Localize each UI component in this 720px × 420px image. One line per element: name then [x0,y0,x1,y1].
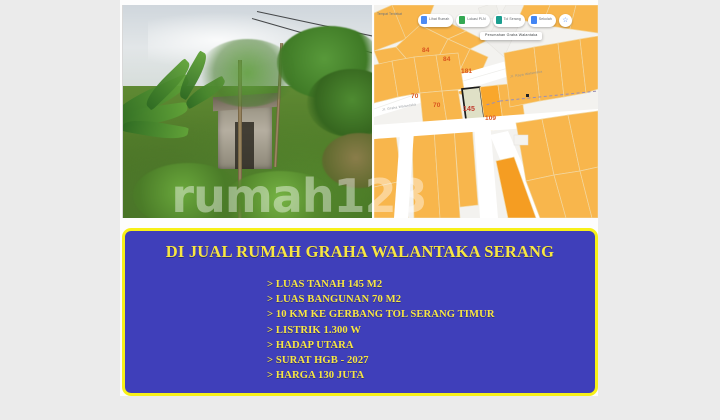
dilapidated-structure [218,105,273,169]
parcel-label-84-b: 84 [443,57,450,64]
map-chip-2[interactable]: Tol Serang [493,14,525,27]
map-marker-dot[interactable] [526,94,529,97]
list-item: > LUAS TANAH 145 M2 [267,277,595,292]
pin-icon [459,16,465,24]
map-chip-label: Lokasi PLN [467,18,485,21]
map-category-chips[interactable]: Lihat Rumah Lokasi PLN Tol Serang Sekola… [374,12,598,28]
star-icon: ☆ [562,17,568,24]
parcel-label-70-a: 70 [411,94,418,101]
building-icon [421,16,427,24]
parcel-label-70-b: 70 [433,103,440,110]
property-photo[interactable] [122,5,372,218]
parcel-label-84-a: 84 [422,48,429,55]
parcel-label-145-selected: 145 [463,106,475,113]
map-chip-3[interactable]: Sekolah [528,14,556,27]
listing-info-panel: DI JUAL RUMAH GRAHA WALANTAKA SERANG > L… [122,228,598,396]
map-chip-label: Tol Serang [504,18,521,21]
foliage-mass [198,39,298,107]
map-chip-saved[interactable]: ☆ [559,14,572,27]
list-item: > LUAS BANGUNAN 70 M2 [267,292,595,307]
road-icon [496,16,502,24]
map-chip-0[interactable]: Lihat Rumah [418,14,453,27]
map-chip-label: Lihat Rumah [429,18,449,21]
list-item: > LISTRIK 1.300 W [267,323,595,338]
bottom-gutter [0,396,598,420]
list-item: > HARGA 130 JUTA [267,368,595,383]
list-item: > 10 KM KE GERBANG TOL SERANG TIMUR [267,307,595,322]
left-gutter [0,0,120,420]
map-place-tooltip[interactable]: Perumahan Graha Walantaka [480,32,542,40]
map-chip-label: Sekolah [539,18,552,21]
list-item: > HADAP UTARA [267,338,595,353]
listing-details-list: > LUAS TANAH 145 M2 > LUAS BANGUNAN 70 M… [267,277,595,383]
cadastral-map[interactable]: Tempat Terdekat Lihat Rumah Lokasi PLN T… [374,5,598,218]
parcel-label-109: 109 [485,116,496,123]
parcel-label-181: 181 [461,69,472,76]
map-chip-1[interactable]: Lokasi PLN [456,14,489,27]
list-item: > SURAT HGB - 2027 [267,353,595,368]
screenshot-canvas: Tempat Terdekat Lihat Rumah Lokasi PLN T… [0,0,720,420]
page-title: DI JUAL RUMAH GRAHA WALANTAKA SERANG [125,242,595,262]
school-icon [531,16,537,24]
